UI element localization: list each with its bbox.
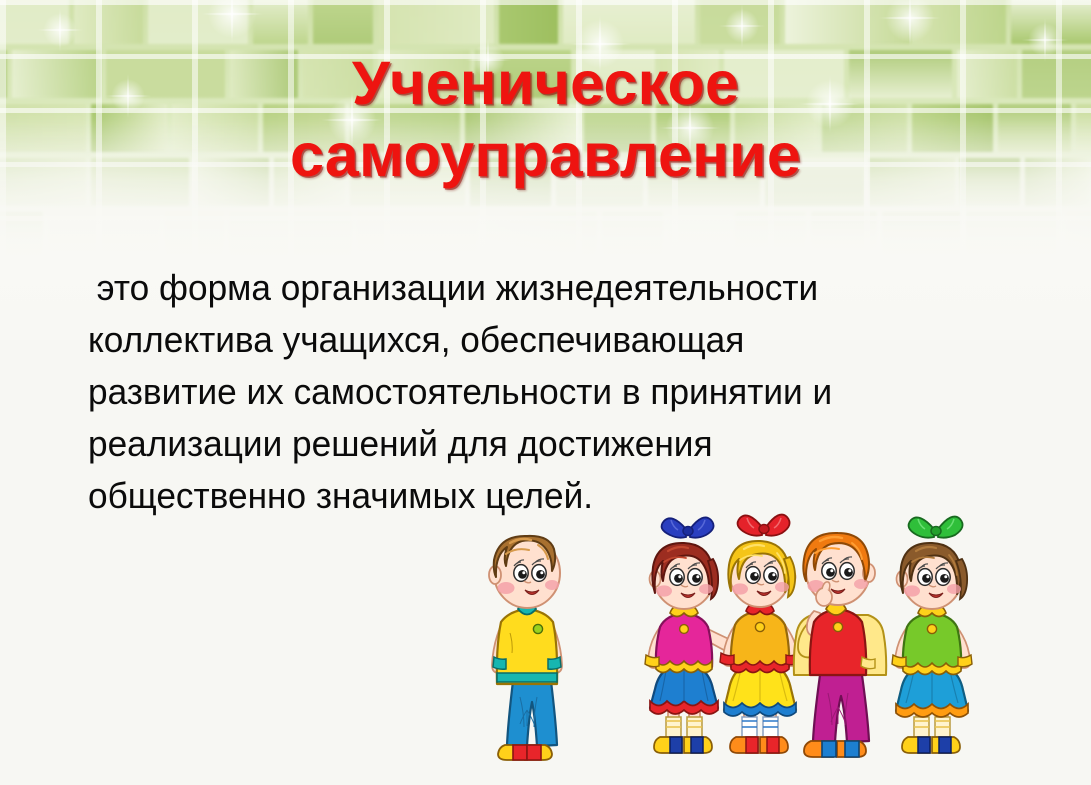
mosaic-tile <box>0 266 96 314</box>
child-boy-orange-hair <box>794 533 886 757</box>
mosaic-tile <box>357 212 478 260</box>
body-line-1: это форма организации жизнедеятельности <box>88 262 995 314</box>
mosaic-tile <box>785 0 911 44</box>
mosaic-tile <box>0 212 43 260</box>
mosaic-tile <box>668 212 730 260</box>
child-girl-yellow-dress <box>720 515 800 753</box>
title-line-1: Ученическое <box>0 52 1091 114</box>
mosaic-tile <box>882 212 961 260</box>
mosaic-tile <box>499 0 558 44</box>
presentation-slide: Ученическое самоуправление это форма орг… <box>0 0 1091 785</box>
mosaic-tile <box>563 0 695 44</box>
mosaic-tile <box>735 212 806 260</box>
mosaic-tile <box>811 212 877 260</box>
mosaic-tile <box>1066 212 1091 260</box>
mosaic-tile <box>0 0 69 44</box>
title-line-2: самоуправление <box>0 124 1091 186</box>
mosaic-tile <box>48 212 160 260</box>
mosaic-tile <box>966 212 1061 260</box>
child-girl-green-top <box>892 517 972 753</box>
body-line-3: развитие их самостоятельности в принятии… <box>88 366 995 418</box>
children-illustration <box>480 505 1040 785</box>
mosaic-tile <box>229 212 352 260</box>
mosaic-tile <box>74 0 143 44</box>
slide-title: Ученическое самоуправление <box>0 52 1091 186</box>
mosaic-tile <box>313 0 373 44</box>
mosaic-tile <box>483 212 597 260</box>
mosaic-tile <box>148 0 248 44</box>
mosaic-tile <box>165 212 224 260</box>
mosaic-tile <box>700 0 780 44</box>
slide-body-text: это форма организации жизнедеятельности … <box>88 262 1028 522</box>
mosaic-tile <box>602 212 663 260</box>
mosaic-tile <box>1054 266 1091 314</box>
mosaic-tile <box>916 0 1006 44</box>
sparkle-highlight <box>187 0 277 59</box>
mosaic-tile <box>378 0 494 44</box>
body-line-5: общественно значимых целей. <box>88 470 995 522</box>
body-line-4: реализации решений для достижения <box>88 418 995 470</box>
child-boy-yellow-shirt <box>489 536 562 760</box>
body-line-2: коллектива учащихся, обеспечивающая <box>88 314 995 366</box>
mosaic-tile <box>253 0 308 44</box>
mosaic-tile <box>1011 0 1091 44</box>
children-svg <box>480 505 1040 785</box>
